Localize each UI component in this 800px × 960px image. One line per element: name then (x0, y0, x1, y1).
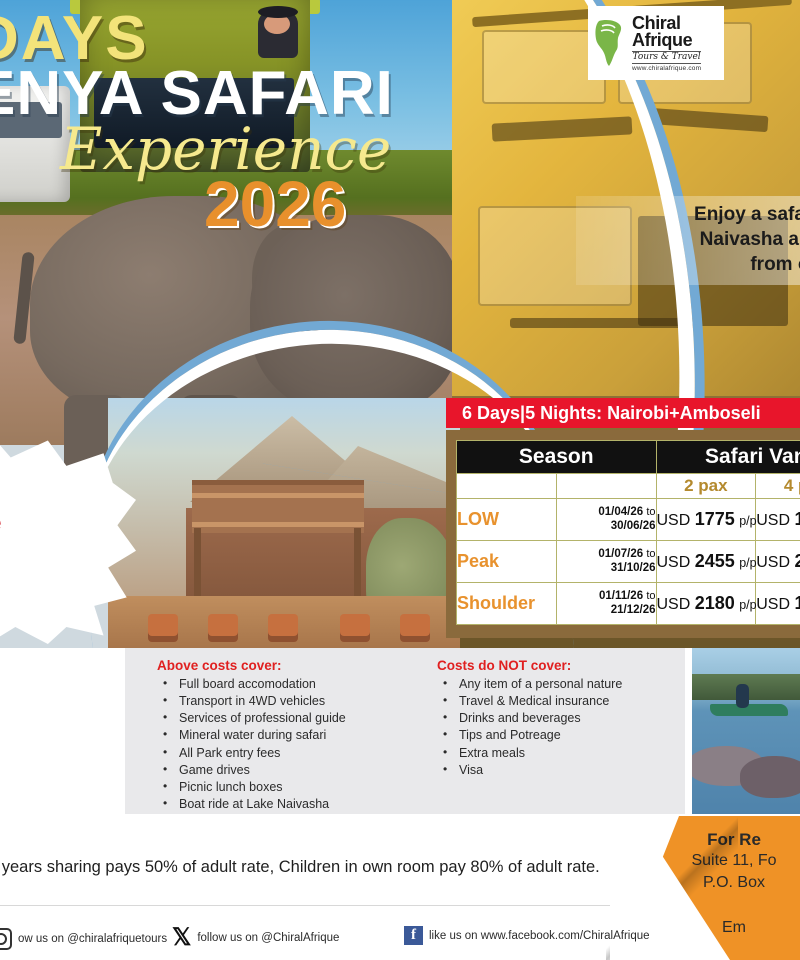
row-price-2pax-peak: USD 2455 p/p (656, 541, 756, 583)
logo-website: www.chiralafrique.com (632, 66, 701, 73)
lounge-chair (268, 614, 298, 642)
wildlife-badge: a wildlife diverse e (0, 432, 136, 644)
intro-line-1: Enjoy a safari to Am (576, 202, 800, 227)
price-table-frame: Season Safari Van 2 pax 4 pax LOW 01/04/… (446, 430, 800, 638)
currency: USD (657, 554, 691, 571)
row-price-4pax-shoulder: USD 1875 (756, 583, 800, 625)
badge-line-3: diverse (0, 510, 128, 537)
row-season-low: LOW (457, 499, 557, 541)
costs-info-panel: Above costs cover: Full board accomodati… (125, 648, 685, 814)
safari-lodge-photo (108, 398, 460, 648)
hippo-boat-photo (692, 648, 800, 814)
amount: 2180 (695, 593, 735, 613)
row-price-4pax-low: USD 1470 (756, 499, 800, 541)
table-row: Shoulder 01/11/26 to 21/12/26 USD 2180 p… (457, 583, 800, 625)
list-item: All Park entry fees (157, 745, 432, 762)
lodge-lounge-area (108, 596, 460, 648)
currency: USD (756, 512, 790, 529)
unit: p/p (739, 556, 756, 570)
hippo-2 (740, 756, 800, 798)
footer-divider (0, 905, 610, 906)
exclusions-list: Any item of a personal nature Travel & M… (437, 676, 667, 779)
date-sep: to (646, 548, 655, 560)
date-from: 01/07/26 (598, 548, 643, 560)
exclusions-column: Costs do NOT cover: Any item of a person… (437, 658, 667, 779)
row-dates-low: 01/04/26 to 30/06/26 (556, 499, 656, 541)
list-item: Extra meals (437, 745, 667, 762)
row-season-peak: Peak (457, 541, 557, 583)
amount: 1875 (794, 593, 800, 613)
instagram-link[interactable]: ow us on @chiralafriquetours (0, 928, 167, 950)
amount: 2455 (695, 551, 735, 571)
hero-collage: DAYS ENYA SAFARI Experience 2026 Chiral … (0, 0, 800, 648)
list-item: Services of professional guide (157, 710, 432, 727)
table-row: LOW 01/04/26 to 30/06/26 USD 1775 p/p US… (457, 499, 800, 541)
date-to: 31/10/26 (611, 562, 656, 574)
header-vehicle: Safari Van (656, 441, 800, 474)
date-from: 01/04/26 (598, 506, 643, 518)
instagram-icon (0, 928, 12, 950)
price-table: Season Safari Van 2 pax 4 pax LOW 01/04/… (456, 440, 800, 625)
badge-line-4: e (0, 537, 128, 564)
amount: 1775 (695, 509, 735, 529)
badge-line-1: a (0, 456, 128, 483)
lounge-chair (148, 614, 178, 642)
lounge-chair (400, 614, 430, 642)
vehicle-trim-1 (492, 116, 633, 141)
x-link[interactable]: 𝕏 follow us on @ChiralAfrique (172, 926, 339, 950)
date-sep: to (646, 590, 655, 602)
logo-text: Chiral Afrique Tours & Travel www.chiral… (632, 14, 701, 73)
second-elephant-photo (250, 215, 460, 415)
inclusions-list: Full board accomodation Transport in 4WD… (157, 676, 432, 830)
starburst-text: a wildlife diverse e (0, 456, 128, 564)
row-dates-peak: 01/07/26 to 31/10/26 (556, 541, 656, 583)
lounge-chair (340, 614, 370, 642)
list-item: Any item of a personal nature (437, 676, 667, 693)
vehicle-sill (510, 318, 700, 328)
subheader-2pax: 2 pax (656, 474, 756, 499)
child-policy-note: 1 years sharing pays 50% of adult rate, … (0, 858, 648, 877)
social-footer: ow us on @chiralafriquetours 𝕏 follow us… (0, 912, 800, 960)
hero-title-block: DAYS ENYA SAFARI Experience 2026 (0, 10, 494, 236)
vehicle-trim-2 (648, 108, 769, 132)
row-price-4pax-peak: USD 2145 (756, 541, 800, 583)
exclusions-title: Costs do NOT cover: (437, 658, 667, 673)
facebook-link[interactable]: f like us on www.facebook.com/ChiralAfri… (404, 926, 650, 945)
list-item: Mineral water during safari (157, 727, 432, 744)
lounge-chair (208, 614, 238, 642)
row-dates-shoulder: 01/11/26 to 21/12/26 (556, 583, 656, 625)
list-item: Visa (437, 762, 667, 779)
list-item: Picnic lunch boxes (157, 779, 432, 796)
company-logo[interactable]: Chiral Afrique Tours & Travel www.chiral… (588, 6, 724, 80)
list-item: Travel & Medical insurance (437, 693, 667, 710)
unit: p/p (739, 514, 756, 528)
amount: 1470 (794, 509, 800, 529)
subheader-4pax: 4 pax (756, 474, 800, 499)
intro-line-3: from our seas (576, 252, 800, 277)
intro-paragraph: Enjoy a safari to Am Naivasha and the G … (576, 196, 800, 285)
amount: 2145 (794, 551, 800, 571)
list-item: Transport in 4WD vehicles (157, 693, 432, 710)
table-row: Peak 01/07/26 to 31/10/26 USD 2455 p/p U… (457, 541, 800, 583)
inclusions-column: Above costs cover: Full board accomodati… (157, 658, 432, 830)
list-item: Boat ride at Lake Naivasha (157, 796, 432, 813)
currency: USD (756, 554, 790, 571)
date-from: 01/11/26 (599, 590, 643, 602)
intro-line-2: Naivasha and the G (576, 227, 800, 252)
date-sep: to (646, 506, 655, 518)
instagram-label: ow us on @chiralafriquetours (18, 933, 167, 945)
list-item: Game drives (157, 762, 432, 779)
list-item: Tips and Potreage (437, 727, 667, 744)
table-header-row: Season Safari Van (457, 441, 800, 474)
currency: USD (756, 596, 790, 613)
x-label: follow us on @ChiralAfrique (197, 932, 339, 944)
date-to: 21/12/26 (611, 604, 656, 616)
row-season-shoulder: Shoulder (457, 583, 557, 625)
list-item: Drinks and beverages (437, 710, 667, 727)
x-twitter-icon: 𝕏 (172, 926, 191, 950)
row-price-2pax-low: USD 1775 p/p (656, 499, 756, 541)
boat-passenger (736, 684, 749, 708)
africa-map-icon (592, 18, 628, 68)
brochure-page: DAYS ENYA SAFARI Experience 2026 Chiral … (0, 0, 800, 960)
logo-name-line2: Afrique (632, 31, 701, 49)
lodge-balcony (192, 480, 364, 533)
list-item: Full board accomodation (157, 676, 432, 693)
date-to: 30/06/26 (611, 520, 656, 532)
facebook-label: like us on www.facebook.com/ChiralAfriqu… (429, 930, 650, 942)
table-subheader-row: 2 pax 4 pax (457, 474, 800, 499)
header-season: Season (457, 441, 657, 474)
inclusions-title: Above costs cover: (157, 658, 432, 673)
logo-tagline: Tours & Travel (632, 51, 701, 64)
row-price-2pax-shoulder: USD 2180 p/p (656, 583, 756, 625)
currency: USD (657, 596, 691, 613)
badge-line-2: wildlife (0, 483, 128, 510)
boat (710, 704, 788, 716)
package-banner: 6 Days|5 Nights: Nairobi+Amboseli (446, 398, 800, 428)
facebook-icon: f (404, 926, 423, 945)
currency: USD (657, 512, 691, 529)
unit: p/p (739, 598, 756, 612)
